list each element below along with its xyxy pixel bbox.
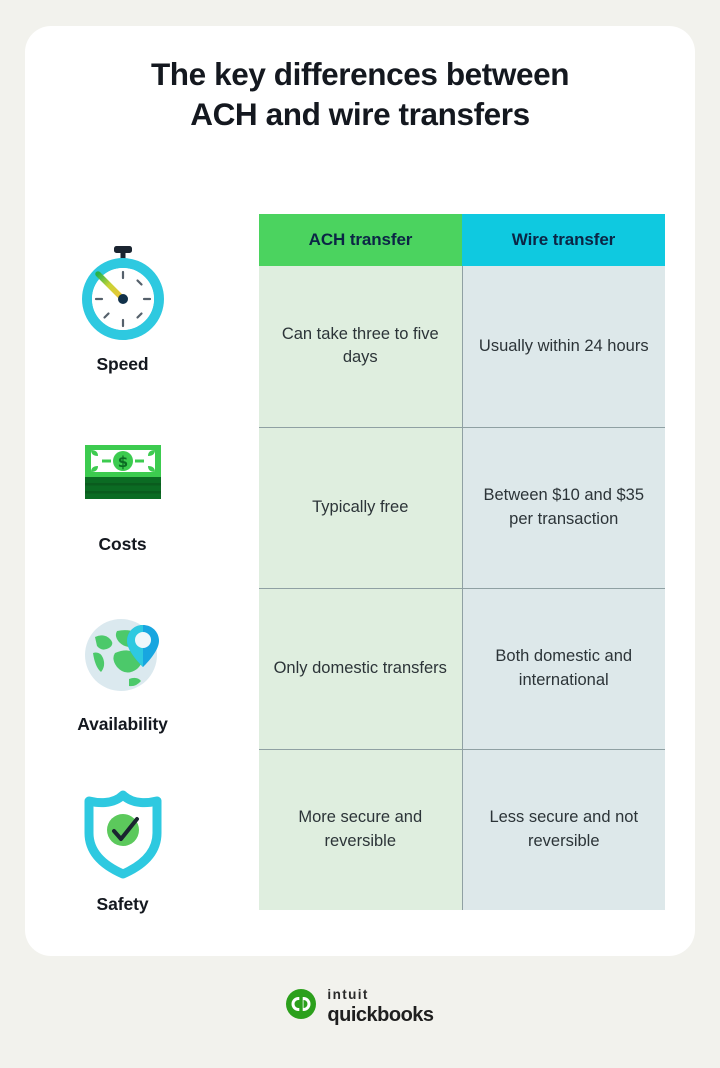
category-speed: Speed: [10, 218, 235, 398]
quickbooks-logo: intuit quickbooks: [0, 988, 720, 1025]
logo-wordmark: intuit quickbooks: [327, 988, 433, 1025]
category-costs: $ Costs: [10, 398, 235, 578]
banknotes-icon: $: [71, 421, 175, 525]
category-label-speed: Speed: [96, 354, 148, 375]
cell-availability-ach: Only domestic transfers: [259, 588, 462, 749]
category-label-safety: Safety: [97, 894, 149, 915]
cell-availability-wire: Both domestic and international: [462, 588, 665, 749]
table-header-row: ACH transfer Wire transfer: [259, 214, 665, 266]
cell-costs-wire: Between $10 and $35 per transaction: [462, 427, 665, 588]
page-title-line-2: ACH and wire transfers: [0, 94, 720, 134]
comparison-table: ACH transfer Wire transfer Can take thre…: [259, 214, 665, 910]
logo-quickbooks-text: quickbooks: [327, 1005, 433, 1025]
page-title: The key differences between ACH and wire…: [0, 54, 720, 135]
stopwatch-icon: [71, 241, 175, 345]
svg-text:$: $: [117, 453, 127, 471]
cell-safety-ach: More secure and reversible: [259, 749, 462, 910]
cell-speed-wire: Usually within 24 hours: [462, 266, 665, 427]
table-header: ACH transfer Wire transfer: [259, 214, 665, 266]
category-safety: Safety: [10, 758, 235, 938]
shield-check-icon: [71, 781, 175, 885]
cell-costs-ach: Typically free: [259, 427, 462, 588]
column-header-ach: ACH transfer: [259, 214, 462, 266]
cell-safety-wire: Less secure and not reversible: [462, 749, 665, 910]
table-row: Only domestic transfers Both domestic an…: [259, 588, 665, 749]
category-label-costs: Costs: [98, 534, 146, 555]
table-row: Can take three to five days Usually with…: [259, 266, 665, 427]
page-title-line-1: The key differences between: [0, 54, 720, 94]
cell-speed-ach: Can take three to five days: [259, 266, 462, 427]
table-body: Can take three to five days Usually with…: [259, 266, 665, 910]
category-label-availability: Availability: [77, 714, 168, 735]
table-row: More secure and reversible Less secure a…: [259, 749, 665, 910]
globe-pin-icon: [71, 601, 175, 705]
category-icon-column: Speed $ Costs: [10, 218, 235, 938]
category-availability: Availability: [10, 578, 235, 758]
qb-circle-icon: [286, 989, 316, 1024]
logo-intuit-text: intuit: [327, 988, 433, 1002]
column-header-wire: Wire transfer: [462, 214, 665, 266]
table-row: Typically free Between $10 and $35 per t…: [259, 427, 665, 588]
